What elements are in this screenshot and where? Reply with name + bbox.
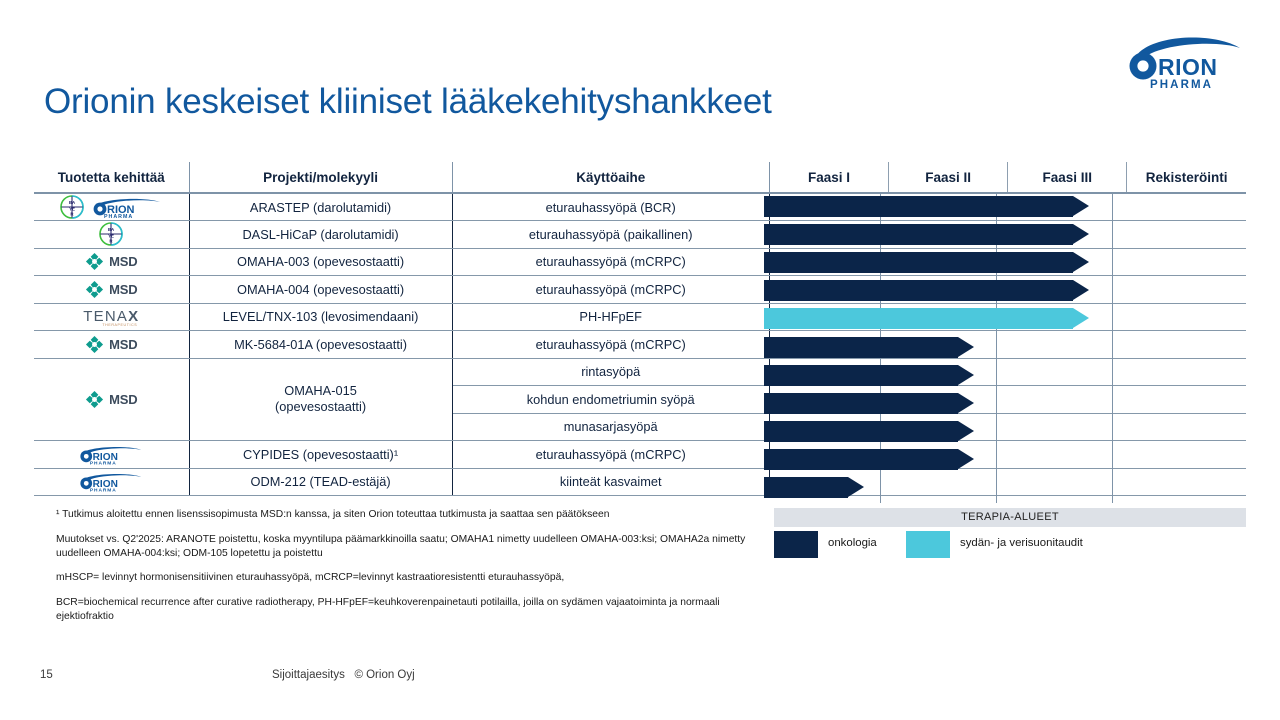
svg-text:RION: RION bbox=[1158, 54, 1218, 80]
pipeline-table: Tuotetta kehittää Projekti/molekyyli Käy… bbox=[34, 162, 1246, 496]
footnotes-block: ¹ Tutkimus aloitettu ennen lisenssisopim… bbox=[56, 508, 756, 624]
header-indication: Käyttöaihe bbox=[452, 162, 769, 193]
orion-logo-small: RION PHARMA bbox=[78, 444, 144, 465]
bayer-logo: BA YE R bbox=[99, 222, 123, 246]
table-row: MSD OMAHA-015 (opevesostaatti) rintasyöp… bbox=[34, 358, 1246, 386]
project-cell: ARASTEP (darolutamidi) bbox=[189, 193, 452, 221]
indication-cell: eturauhassyöpä (mCRPC) bbox=[452, 441, 769, 469]
project-cell: OMAHA-015 (opevesostaatti) bbox=[189, 358, 452, 441]
svg-text:PHARMA: PHARMA bbox=[104, 214, 133, 218]
table-row: BA YE R RION PHARMA bbox=[34, 193, 1246, 221]
svg-text:PHARMA: PHARMA bbox=[90, 460, 117, 464]
footnote-1: ¹ Tutkimus aloitettu ennen lisenssisopim… bbox=[56, 508, 756, 522]
legend: TERAPIA-ALUEET onkologia sydän- ja veris… bbox=[774, 508, 1246, 561]
project-molecule: (opevesostaatti) bbox=[190, 399, 452, 415]
msd-wordmark: MSD bbox=[109, 282, 137, 297]
indication-cell: eturauhassyöpä (BCR) bbox=[452, 193, 769, 221]
legend-swatch-oncology bbox=[774, 531, 818, 558]
tenax-logo: TENAXTHERAPEUTICS bbox=[83, 308, 139, 325]
indication-cell: eturauhassyöpä (mCRPC) bbox=[452, 331, 769, 359]
bayer-logo: BA YE R bbox=[60, 195, 84, 219]
svg-text:PHARMA: PHARMA bbox=[90, 488, 117, 492]
developer-cell: BA YE R RION PHARMA bbox=[34, 193, 189, 221]
footnote-3: mHSCP= levinnyt hormonisensitiivinen etu… bbox=[56, 571, 756, 585]
msd-logo: MSD bbox=[85, 390, 137, 409]
developer-cell: BA YE R bbox=[34, 221, 189, 249]
phase-bar-cell bbox=[769, 331, 1246, 359]
project-cell: CYPIDES (opevesostaatti)¹ bbox=[189, 441, 452, 469]
header-phase-2: Faasi II bbox=[889, 162, 1008, 193]
indication-cell: PH-HFpEF bbox=[452, 303, 769, 331]
header-phase-1: Faasi I bbox=[769, 162, 888, 193]
table-row: TENAXTHERAPEUTICS LEVEL/TNX-103 (levosim… bbox=[34, 303, 1246, 331]
header-registration: Rekisteröinti bbox=[1127, 162, 1246, 193]
table-row: MSD OMAHA-004 (opevesostaatti) eturauhas… bbox=[34, 276, 1246, 304]
phase-bar-cell bbox=[769, 358, 1246, 386]
phase-bar-cell bbox=[769, 248, 1246, 276]
phase-bar-cell bbox=[769, 386, 1246, 414]
developer-cell: TENAXTHERAPEUTICS bbox=[34, 303, 189, 331]
indication-cell: eturauhassyöpä (mCRPC) bbox=[452, 276, 769, 304]
legend-label-oncology: onkologia bbox=[828, 537, 877, 549]
table-row: BA YE R DASL-HiCaP (darolutamidi) eturau… bbox=[34, 221, 1246, 249]
bar-row-1 bbox=[770, 194, 1280, 220]
page-title: Orionin keskeiset kliiniset lääkekehitys… bbox=[44, 82, 772, 122]
phase-bar-cell bbox=[769, 276, 1246, 304]
table-row: MSD MK-5684-01A (opevesostaatti) eturauh… bbox=[34, 331, 1246, 359]
legend-swatch-cardiovascular bbox=[906, 531, 950, 558]
orion-logo-small: RION PHARMA bbox=[91, 196, 163, 218]
svg-text:BA: BA bbox=[108, 227, 115, 232]
svg-text:BA: BA bbox=[69, 200, 76, 205]
legend-label-cardiovascular: sydän- ja verisuonitaudit bbox=[960, 537, 1083, 549]
tenax-tagline: THERAPEUTICS bbox=[102, 323, 137, 327]
svg-text:R: R bbox=[110, 239, 114, 244]
svg-text:PHARMA: PHARMA bbox=[1150, 79, 1213, 91]
indication-cell: eturauhassyöpä (mCRPC) bbox=[452, 248, 769, 276]
developer-cell: MSD bbox=[34, 331, 189, 359]
svg-text:R: R bbox=[70, 212, 74, 217]
header-phase-3: Faasi III bbox=[1008, 162, 1127, 193]
legend-items: onkologia sydän- ja verisuonitaudit bbox=[774, 531, 1246, 561]
msd-wordmark: MSD bbox=[109, 392, 137, 407]
project-cell: ODM-212 (TEAD-estäjä) bbox=[189, 468, 452, 496]
indication-cell: kohdun endometriumin syöpä bbox=[452, 386, 769, 414]
phase-bar-cell bbox=[769, 193, 1246, 221]
header-developer: Tuotetta kehittää bbox=[34, 162, 189, 193]
project-cell: OMAHA-003 (opevesostaatti) bbox=[189, 248, 452, 276]
slide-number: 15 bbox=[40, 669, 53, 681]
project-cell: MK-5684-01A (opevesostaatti) bbox=[189, 331, 452, 359]
phase-bar-cell bbox=[769, 468, 1246, 496]
phase-bar-cell bbox=[769, 221, 1246, 249]
table-row: RION PHARMA ODM-212 (TEAD-estäjä) kiinte… bbox=[34, 468, 1246, 496]
developer-cell: MSD bbox=[34, 248, 189, 276]
indication-cell: kiinteät kasvaimet bbox=[452, 468, 769, 496]
msd-wordmark: MSD bbox=[109, 254, 137, 269]
phase-bar-cell bbox=[769, 413, 1246, 441]
msd-logo: MSD bbox=[85, 335, 137, 354]
header-project: Projekti/molekyyli bbox=[189, 162, 452, 193]
project-cell: DASL-HiCaP (darolutamidi) bbox=[189, 221, 452, 249]
project-cell: LEVEL/TNX-103 (levosimendaani) bbox=[189, 303, 452, 331]
footnote-2: Muutokset vs. Q2'2025: ARANOTE poistettu… bbox=[56, 533, 756, 561]
table-row: RION PHARMA CYPIDES (opevesostaatti)¹ et… bbox=[34, 441, 1246, 469]
msd-wordmark: MSD bbox=[109, 337, 137, 352]
orion-logo-small: RION PHARMA bbox=[78, 471, 144, 492]
phase-bar-cell bbox=[769, 441, 1246, 469]
phase-bar-cell bbox=[769, 303, 1246, 331]
table-header-row: Tuotetta kehittää Projekti/molekyyli Käy… bbox=[34, 162, 1246, 193]
table-row: MSD OMAHA-003 (opevesostaatti) eturauhas… bbox=[34, 248, 1246, 276]
indication-cell: rintasyöpä bbox=[452, 358, 769, 386]
msd-logo: MSD bbox=[85, 280, 137, 299]
footer-note: Sijoittajaesitys © Orion Oyj bbox=[272, 669, 415, 681]
orion-pharma-logo: RION PHARMA bbox=[1122, 26, 1252, 92]
developer-cell: RION PHARMA bbox=[34, 441, 189, 469]
developer-cell: MSD bbox=[34, 276, 189, 304]
developer-cell: MSD bbox=[34, 358, 189, 441]
footnote-4: BCR=biochemical recurrence after curativ… bbox=[56, 596, 756, 624]
project-cell: OMAHA-004 (opevesostaatti) bbox=[189, 276, 452, 304]
developer-cell: RION PHARMA bbox=[34, 468, 189, 496]
msd-logo: MSD bbox=[85, 252, 137, 271]
indication-cell: eturauhassyöpä (paikallinen) bbox=[452, 221, 769, 249]
project-name: OMAHA-015 bbox=[190, 383, 452, 399]
legend-title: TERAPIA-ALUEET bbox=[774, 508, 1246, 527]
indication-cell: munasarjasyöpä bbox=[452, 413, 769, 441]
